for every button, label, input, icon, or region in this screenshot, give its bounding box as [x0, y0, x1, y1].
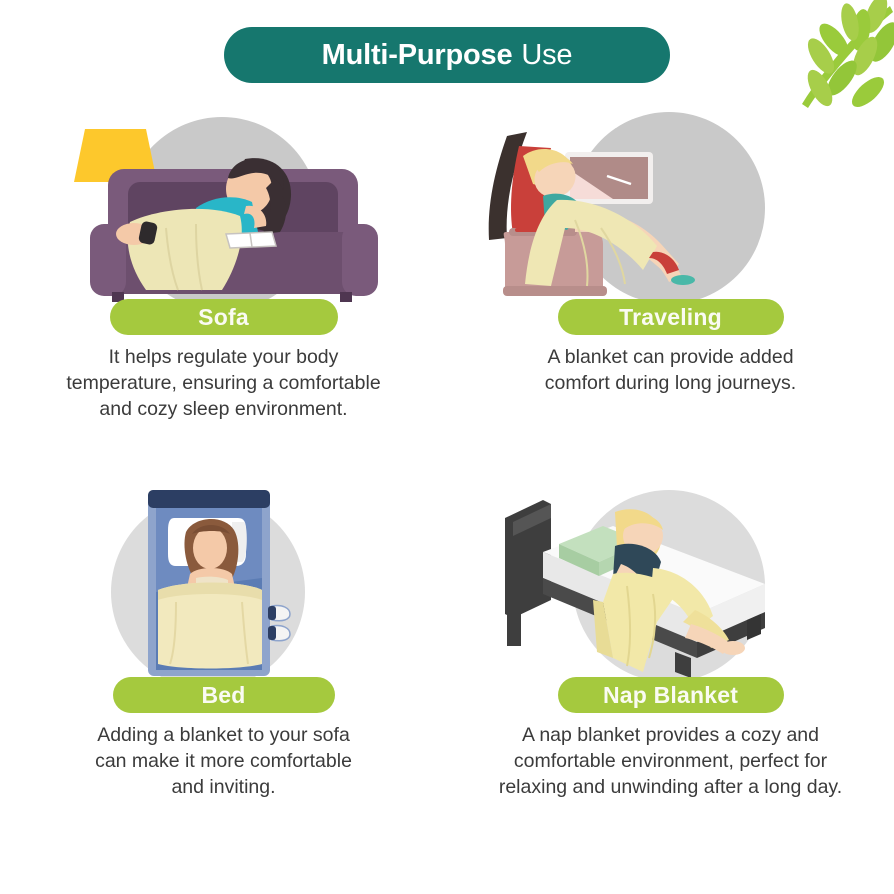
card-label-bed: Bed: [201, 682, 245, 709]
card-nap-blanket: Nap Blanket A nap blanket provides a coz…: [447, 482, 894, 800]
cards-grid: Sofa It helps regulate your body tempera…: [0, 104, 894, 800]
card-description-nap-blanket: A nap blanket provides a cozy and comfor…: [461, 722, 881, 800]
card-label-nap-blanket: Nap Blanket: [603, 682, 738, 709]
infographic-page: Multi-Purpose Use: [0, 0, 894, 894]
card-sofa: Sofa It helps regulate your body tempera…: [0, 104, 447, 422]
illustration-sofa: [0, 104, 447, 299]
card-description-sofa: It helps regulate your body temperature,…: [24, 344, 424, 422]
illustration-bed: [0, 482, 447, 677]
page-title-strong: Multi-Purpose: [322, 39, 513, 72]
card-label-traveling: Traveling: [619, 304, 722, 331]
card-description-traveling: A blanket can provide added comfort duri…: [506, 344, 836, 396]
page-title-light: Use: [521, 39, 572, 72]
card-bed: Bed Adding a blanket to your sofa can ma…: [0, 482, 447, 800]
card-label-sofa: Sofa: [198, 304, 249, 331]
cards-row-2: Bed Adding a blanket to your sofa can ma…: [0, 482, 894, 800]
card-label-pill-nap-blanket[interactable]: Nap Blanket: [558, 677, 784, 713]
card-traveling: Traveling A blanket can provide added co…: [447, 104, 894, 422]
illustration-traveling: [447, 104, 894, 299]
leaf-branch-icon: [764, 0, 894, 120]
card-description-bed: Adding a blanket to your sofa can make i…: [59, 722, 389, 800]
card-label-pill-traveling[interactable]: Traveling: [558, 299, 784, 335]
card-label-pill-bed[interactable]: Bed: [113, 677, 335, 713]
page-title-banner: Multi-Purpose Use: [224, 27, 670, 83]
illustration-nap-blanket: [447, 482, 894, 677]
cards-row-1: Sofa It helps regulate your body tempera…: [0, 104, 894, 422]
card-label-pill-sofa[interactable]: Sofa: [110, 299, 338, 335]
